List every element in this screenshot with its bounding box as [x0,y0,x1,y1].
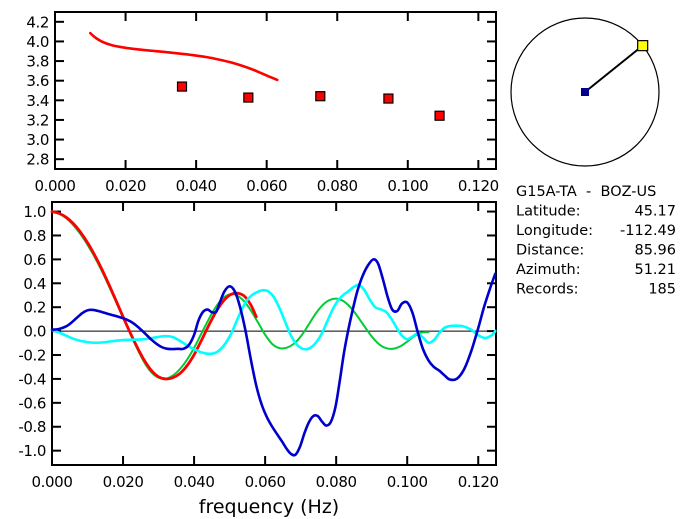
info-label-records: Records: [516,282,579,298]
center-station-marker [582,89,589,96]
y-tick-label: 3.2 [26,111,49,129]
data-point-marker [435,111,444,120]
x-tick-label: 0.120 [458,177,499,195]
data-point-marker [178,82,187,91]
info-value-longitude: -112.49 [620,223,676,239]
y-tick-label: 0.6 [23,251,46,269]
y-tick-label: -0.4 [18,370,46,388]
info-value-records: 185 [648,282,676,298]
info-value-distance: 85.96 [634,243,676,259]
plot-page: 2.83.03.23.43.63.84.04.20.0000.0200.0400… [0,0,696,519]
dispersion-plot-frame [55,12,496,169]
y-tick-label: 3.0 [26,131,49,149]
y-tick-label: 3.4 [26,92,49,110]
figure-canvas: 2.83.03.23.43.63.84.04.20.0000.0200.0400… [0,0,696,519]
x-tick-label: 0.120 [458,473,499,491]
data-point-marker [316,92,325,101]
remote-station-marker [638,41,648,51]
y-tick-label: 3.8 [26,53,49,71]
x-tick-label: 0.040 [176,177,217,195]
blue-coherence-curve [52,259,495,455]
x-tick-label: 0.020 [103,473,144,491]
y-tick-label: 0.8 [23,227,46,245]
y-tick-label: 4.0 [26,33,49,51]
data-point-marker [244,93,253,102]
info-label-latitude: Latitude: [516,204,581,220]
x-axis-title: frequency (Hz) [199,496,339,518]
station-info-panel: G15A-TA - BOZ-USLatitude:45.17Longitude:… [516,184,676,298]
y-tick-label: 3.6 [26,72,49,90]
x-tick-label: 0.000 [35,177,76,195]
x-tick-label: 0.060 [245,473,286,491]
azimuth-ray [585,46,643,92]
info-value-azimuth: 51.21 [634,262,676,278]
station-pair-label: G15A-TA - BOZ-US [516,184,656,200]
x-tick-label: 0.080 [316,473,357,491]
y-tick-label: 4.2 [26,13,49,31]
phase-velocity-curve [90,33,277,80]
y-tick-label: -0.6 [18,394,46,412]
y-tick-label: 0.2 [23,299,46,317]
cross-correlation-plot-frame [52,202,496,465]
y-tick-label: 2.8 [26,151,49,169]
x-tick-label: 0.100 [387,177,428,195]
cyan-coherence-curve [52,285,495,354]
info-value-latitude: 45.17 [634,204,676,220]
y-tick-label: -0.8 [18,418,46,436]
x-tick-label: 0.100 [387,473,428,491]
y-tick-label: -1.0 [18,442,46,460]
y-tick-label: 1.0 [23,203,46,221]
x-tick-label: 0.080 [317,177,358,195]
x-tick-label: 0.060 [246,177,287,195]
info-label-longitude: Longitude: [516,223,593,239]
x-tick-label: 0.020 [105,177,146,195]
info-label-azimuth: Azimuth: [516,262,581,278]
dispersion-plot: 2.83.03.23.43.63.84.04.20.0000.0200.0400… [26,12,498,195]
cross-correlation-plot: -1.0-0.8-0.6-0.4-0.20.00.20.40.60.81.00.… [18,202,498,518]
group-velocity-points [178,82,445,120]
info-label-distance: Distance: [516,243,584,259]
data-point-marker [384,94,393,103]
x-tick-label: 0.000 [32,473,73,491]
y-tick-label: 0.0 [23,323,46,341]
azimuth-compass [511,18,659,166]
y-tick-label: 0.4 [23,275,46,293]
y-tick-label: -0.2 [18,347,46,365]
x-tick-label: 0.040 [174,473,215,491]
